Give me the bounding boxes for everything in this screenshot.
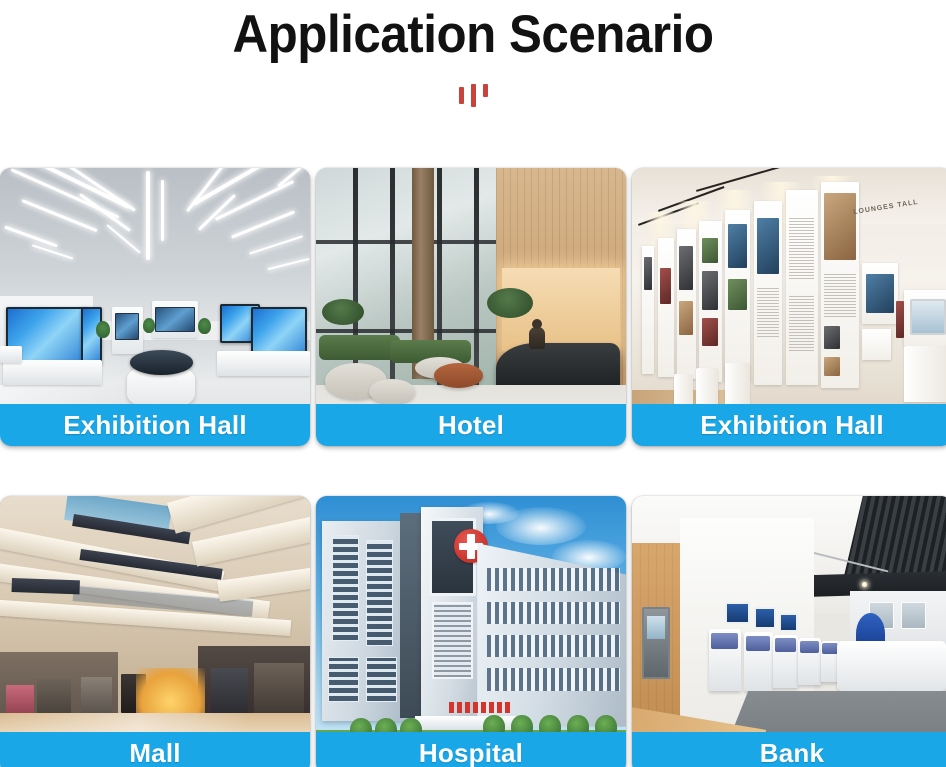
bank-kiosk-2: [744, 632, 773, 690]
card-label-exhibition-hall-museum: Exhibition Hall: [632, 404, 946, 446]
hospital-wing-windows-2: [487, 602, 620, 624]
bank-photo: [632, 496, 946, 767]
page-title: Application Scenario: [33, 4, 913, 66]
card-label-hotel: Hotel: [316, 404, 626, 446]
card-label-text: Exhibition Hall: [700, 410, 884, 441]
bank-kiosk-1: [709, 629, 741, 690]
hospital-photo: [316, 496, 626, 767]
museum-monitor: [910, 299, 945, 335]
scenario-grid: Exhibition Hall: [0, 168, 946, 767]
museum-caption-block-4: [824, 274, 856, 318]
museum-picture-3: [679, 246, 693, 290]
scenario-card-hospital[interactable]: Hospital: [316, 496, 626, 767]
hospital-entrance-sign: [449, 702, 511, 713]
hospital-window-bank-1: [332, 535, 360, 641]
museum-panel-2: [658, 238, 674, 377]
bank-atm-machine: [642, 607, 671, 679]
museum-picture-7: [702, 318, 718, 346]
bank-kiosk-4: [798, 638, 820, 685]
card-label-text: Mall: [129, 738, 180, 767]
mall-photo: [0, 496, 310, 767]
accent-bar-3: [483, 84, 488, 97]
mall-store-6: [254, 663, 304, 719]
card-label-text: Exhibition Hall: [63, 410, 247, 441]
museum-picture-4: [679, 301, 693, 334]
card-label-text: Hospital: [419, 738, 523, 767]
museum-caption-block-2: [789, 218, 815, 279]
scenario-card-bank[interactable]: Bank: [632, 496, 946, 767]
museum-picture-10: [757, 218, 779, 274]
bank-wall-screen-2: [754, 607, 776, 629]
hospital-wing-windows-4: [487, 668, 620, 690]
museum-picture-14: [866, 274, 895, 313]
showroom-screen-1: [115, 313, 140, 341]
museum-picture-13: [824, 357, 840, 376]
showroom-display-podium: [127, 363, 195, 410]
showroom-cabinet-right: [217, 351, 310, 376]
bank-wall-screen-3: [779, 613, 798, 632]
hotel-ottoman-brown: [434, 363, 484, 388]
showroom-cabinet-left: [3, 360, 102, 385]
hotel-plant-outdoor: [322, 299, 364, 325]
hospital-wing-windows-3: [487, 635, 620, 657]
card-label-text: Bank: [760, 738, 824, 767]
scenario-card-exhibition-hall-showroom[interactable]: Exhibition Hall: [0, 168, 310, 446]
card-label-text: Hotel: [438, 410, 504, 441]
hospital-louvre-panel: [432, 602, 472, 680]
showroom-plant-2: [143, 318, 155, 333]
hotel-mullion-2: [390, 168, 395, 402]
card-label-hospital: Hospital: [316, 732, 626, 767]
museum-picture-2: [660, 268, 672, 304]
mall-void-3: [12, 578, 81, 595]
museum-exhibit-object: [896, 301, 904, 337]
card-label-bank: Bank: [632, 732, 946, 767]
mall-store-5: [211, 668, 248, 715]
scenario-card-hotel[interactable]: Hotel: [316, 168, 626, 446]
showroom-screen-2: [155, 307, 195, 332]
museum-picture-11: [824, 193, 856, 260]
hospital-window-bank-2: [366, 540, 394, 646]
scenario-card-mall[interactable]: Mall: [0, 496, 310, 767]
bank-teller-counter: [837, 641, 946, 691]
museum-picture-12: [824, 326, 840, 348]
card-label-exhibition-hall-showroom: Exhibition Hall: [0, 404, 310, 446]
mall-store-3: [81, 677, 112, 716]
bank-kiosk-3: [773, 635, 799, 688]
hospital-window-bank-4: [366, 657, 397, 701]
mall-beam-right-3: [217, 564, 310, 602]
bank-back-window-2: [901, 602, 927, 630]
bank-wall-screen-1: [725, 602, 751, 624]
museum-picture-9: [728, 279, 747, 310]
hospital-wing-windows-1: [487, 568, 620, 590]
card-label-mall: Mall: [0, 732, 310, 767]
accent-bar-2: [471, 84, 476, 107]
hotel-transom-2: [316, 329, 496, 333]
hotel-receptionist: [529, 327, 545, 349]
museum-picture-6: [702, 271, 718, 310]
hospital-window-bank-3: [328, 657, 359, 701]
showroom-plant-1: [96, 321, 110, 338]
hotel-transom-1: [316, 240, 496, 244]
accent-bar-1: [459, 87, 464, 104]
scenario-card-exhibition-hall-museum[interactable]: LOUNGES TALL Exhibition Hall: [632, 168, 946, 446]
museum-picture-1: [644, 257, 653, 290]
title-accent-bars: [0, 82, 946, 108]
museum-caption-block-1: [757, 288, 779, 338]
showroom-cabinet-left2: [0, 346, 22, 363]
page-header: Application Scenario: [0, 0, 946, 108]
hospital-entrance-canopy: [415, 716, 527, 730]
museum-counter: [904, 346, 946, 402]
museum-caption-block-3: [789, 296, 815, 352]
hotel-hedge-1: [319, 335, 400, 360]
hotel-indoor-tree: [487, 288, 533, 318]
application-scenario-page: Application Scenario: [0, 0, 946, 767]
museum-panel-10: [862, 329, 891, 360]
museum-picture-5: [702, 238, 718, 263]
museum-picture-8: [728, 224, 747, 268]
